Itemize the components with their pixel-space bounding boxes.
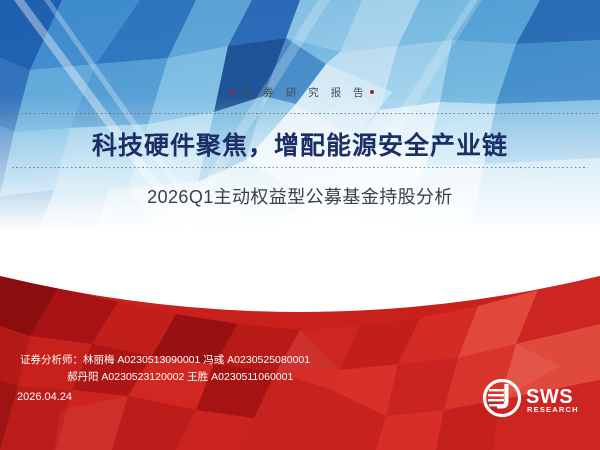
report-subtitle: 2026Q1主动权益型公募基金持股分析 (0, 183, 600, 209)
report-date: 2026.04.24 (17, 391, 72, 403)
analyst-line-2: 郝丹阳 A0230523120002 王胜 A0230511060001 (20, 369, 310, 386)
kicker-dot-right-icon (370, 90, 374, 94)
kicker-label: 证 券 研 究 报 告 (241, 87, 368, 99)
analyst-credits: 证券分析师：林丽梅 A0230513090001 冯彧 A02305250800… (20, 352, 310, 386)
sws-research-logo: SWS RESEARCH (483, 378, 583, 420)
kicker-dot-left-icon (230, 90, 234, 94)
report-cover-page: 证 券 研 究 报 告 科技硬件聚焦，增配能源安全产业链 2026Q1主动权益型… (0, 0, 600, 450)
report-main-title: 科技硬件聚焦，增配能源安全产业链 (0, 126, 600, 162)
report-kicker: 证 券 研 究 报 告 (0, 85, 600, 100)
header-dotted-divider (0, 113, 600, 114)
analyst-line-1: 证券分析师：林丽梅 A0230513090001 冯彧 A02305250800… (20, 352, 310, 369)
svg-text:RESEARCH: RESEARCH (527, 405, 579, 414)
sws-circle-mark-icon (485, 381, 520, 416)
title-dotted-divider (12, 167, 588, 168)
